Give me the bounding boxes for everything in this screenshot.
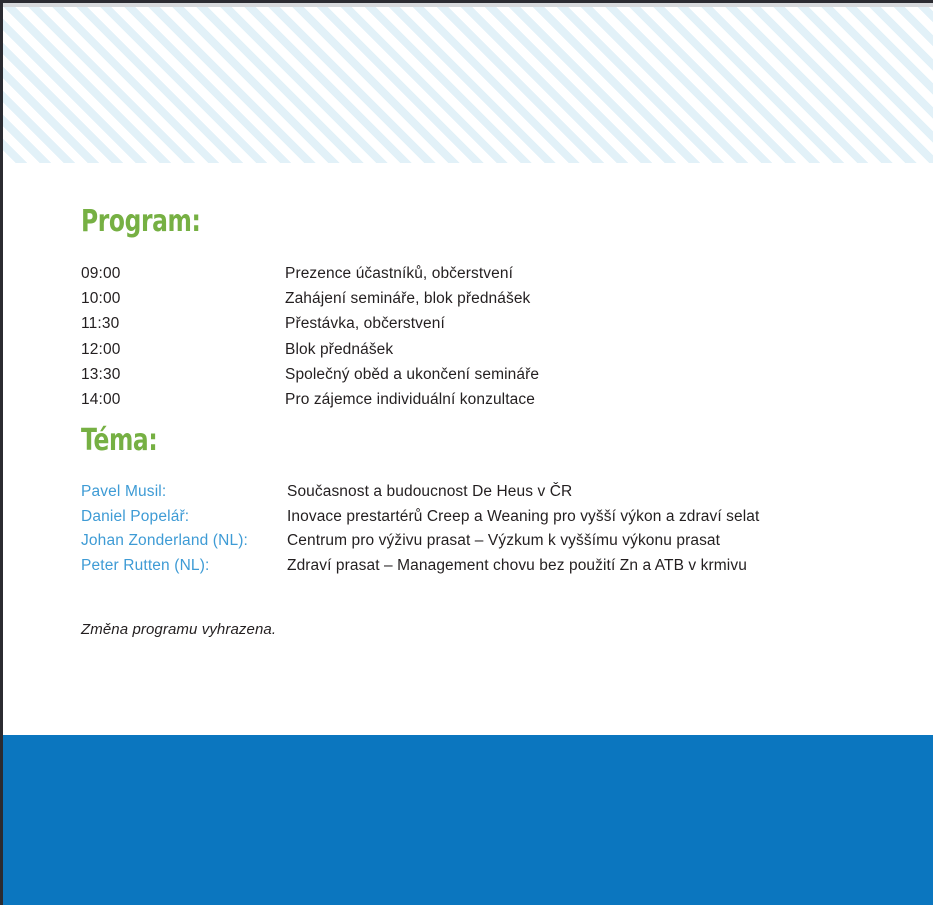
schedule-time: 09:00 <box>81 265 285 283</box>
schedule-row: 09:00 Prezence účastníků, občerstvení <box>81 265 901 290</box>
schedule-activity: Společný oběd a ukončení semináře <box>285 366 539 384</box>
schedule-time: 12:00 <box>81 341 285 359</box>
speaker-row: Peter Rutten (NL): Zdraví prasat – Manag… <box>81 557 901 582</box>
program-heading: Program: <box>81 207 200 237</box>
speaker-topic: Inovace prestartérů Creep a Weaning pro … <box>287 508 759 526</box>
speaker-topic: Zdraví prasat – Management chovu bez pou… <box>287 557 747 575</box>
program-change-disclaimer: Změna programu vyhrazena. <box>81 621 276 638</box>
schedule-row: 11:30 Přestávka, občerstvení <box>81 315 901 340</box>
document-page: Program: 09:00 Prezence účastníků, občer… <box>0 0 933 905</box>
page-top-border <box>0 0 933 3</box>
tema-speaker-list: Pavel Musil: Současnost a budoucnost De … <box>81 483 901 581</box>
speaker-name: Johan Zonderland (NL): <box>81 532 287 550</box>
schedule-time: 11:30 <box>81 315 285 333</box>
schedule-row: 12:00 Blok přednášek <box>81 341 901 366</box>
schedule-activity: Zahájení semináře, blok přednášek <box>285 290 530 308</box>
schedule-activity: Pro zájemce individuální konzultace <box>285 391 535 409</box>
program-schedule-list: 09:00 Prezence účastníků, občerstvení 10… <box>81 265 901 416</box>
document-content: Program: 09:00 Prezence účastníků, občer… <box>0 0 933 905</box>
schedule-activity: Blok přednášek <box>285 341 393 359</box>
speaker-row: Johan Zonderland (NL): Centrum pro výživ… <box>81 532 901 557</box>
speaker-name: Daniel Popelář: <box>81 508 287 526</box>
page-left-border <box>0 0 3 905</box>
speaker-row: Daniel Popelář: Inovace prestartérů Cree… <box>81 508 901 533</box>
speaker-topic: Centrum pro výživu prasat – Výzkum k vyš… <box>287 532 720 550</box>
schedule-time: 14:00 <box>81 391 285 409</box>
schedule-row: 10:00 Zahájení semináře, blok přednášek <box>81 290 901 315</box>
schedule-row: 13:30 Společný oběd a ukončení semináře <box>81 366 901 391</box>
schedule-activity: Prezence účastníků, občerstvení <box>285 265 513 283</box>
schedule-time: 10:00 <box>81 290 285 308</box>
speaker-name: Peter Rutten (NL): <box>81 557 287 575</box>
top-hairline <box>3 3 933 7</box>
schedule-time: 13:30 <box>81 366 285 384</box>
schedule-activity: Přestávka, občerstvení <box>285 315 445 333</box>
speaker-name: Pavel Musil: <box>81 483 287 501</box>
tema-heading: Téma: <box>81 426 157 456</box>
speaker-row: Pavel Musil: Současnost a budoucnost De … <box>81 483 901 508</box>
speaker-topic: Současnost a budoucnost De Heus v ČR <box>287 483 572 501</box>
schedule-row: 14:00 Pro zájemce individuální konzultac… <box>81 391 901 416</box>
